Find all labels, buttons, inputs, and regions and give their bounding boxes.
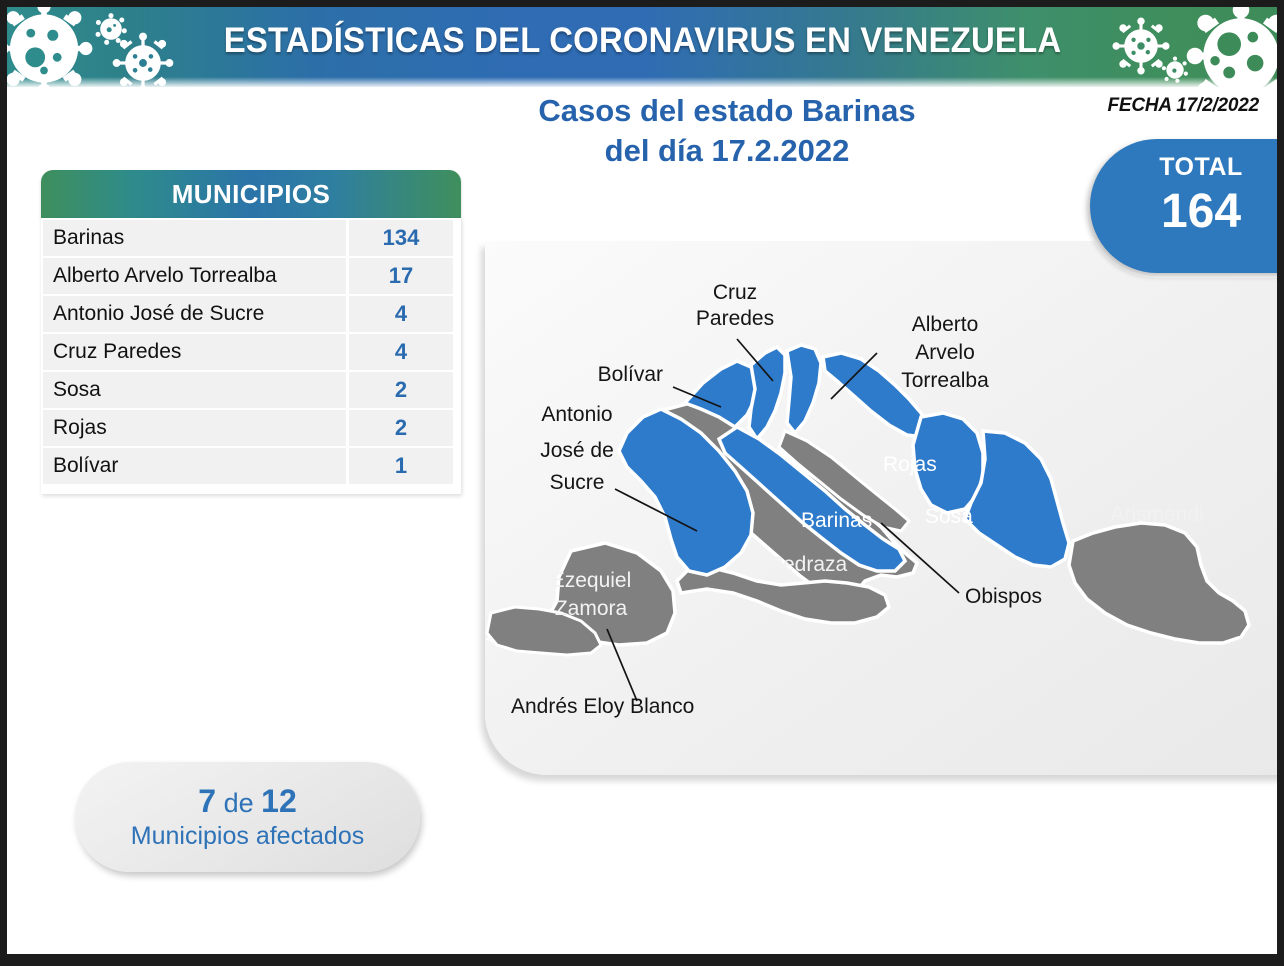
subtitle-line-1: Casos del estado Barinas — [477, 91, 977, 131]
map-label-andres-eloy-blanco: Andrés Eloy Blanco — [511, 695, 694, 718]
map-label-alberto-arvelo-torrealba: Alberto — [912, 313, 979, 336]
affected-ratio: 7 de 12 — [198, 783, 296, 821]
banner-title: ESTADÍSTICAS DEL CORONAVIRUS EN VENEZUEL… — [45, 21, 1240, 61]
page-subtitle: Casos del estado Barinas del día 17.2.20… — [477, 91, 977, 172]
map-label-antonio-jose-de-sucre-3: Sucre — [550, 471, 605, 494]
ratio-connector — [216, 788, 224, 818]
map-label-barinas: Barinas — [801, 509, 872, 532]
map-label-alberto-arvelo-torrealba-3: Torrealba — [901, 369, 989, 392]
map-label-bolivar: Bolívar — [598, 363, 663, 386]
map-label-alberto-arvelo-torrealba-2: Arvelo — [915, 341, 975, 364]
affected-caption: Municipios afectados — [131, 822, 364, 851]
subtitle-line-2: del día 17.2.2022 — [477, 131, 977, 171]
map-label-obispos: Obispos — [965, 585, 1042, 608]
municipios-table: MUNICIPIOS Barinas 134 Alberto Arvelo To… — [41, 170, 461, 494]
map-label-arismendi: Arismendi — [1110, 503, 1203, 526]
table-row[interactable]: Alberto Arvelo Torrealba 17 — [43, 258, 453, 294]
ratio-space — [254, 788, 262, 818]
municipio-cases: 1 — [349, 448, 453, 484]
table-row[interactable]: Cruz Paredes 4 — [43, 334, 453, 370]
affected-total: 12 — [261, 783, 297, 819]
municipio-cases: 4 — [349, 296, 453, 332]
total-value: 164 — [1112, 184, 1284, 239]
affected-count: 7 — [198, 783, 216, 819]
municipio-name: Alberto Arvelo Torrealba — [43, 258, 346, 294]
table-row[interactable]: Sosa 2 — [43, 372, 453, 408]
map-label-ezequiel: Ezequiel — [551, 569, 632, 592]
map-label-antonio-jose-de-sucre-2: José de — [540, 439, 614, 462]
table-body: Barinas 134 Alberto Arvelo Torrealba 17 … — [41, 218, 461, 494]
ratio-connector-word: de — [224, 788, 254, 818]
map-panel: Cruz Paredes Bolívar Antonio José de Suc… — [485, 241, 1284, 775]
table-row[interactable]: Barinas 134 — [43, 220, 453, 256]
municipio-cases: 4 — [349, 334, 453, 370]
municipio-name: Barinas — [43, 220, 346, 256]
map-region-cruz-paredes[interactable] — [749, 347, 785, 439]
municipio-cases: 17 — [349, 258, 453, 294]
municipio-cases: 134 — [349, 220, 453, 256]
map-label-cruz-paredes-2: Paredes — [696, 307, 774, 330]
map-label-sosa: Sosa — [925, 505, 973, 528]
municipio-name: Bolívar — [43, 448, 346, 484]
map-label-rojas: Rojas — [883, 453, 937, 476]
municipio-name: Antonio José de Sucre — [43, 296, 346, 332]
table-header: MUNICIPIOS — [41, 170, 461, 218]
municipio-cases: 2 — [349, 372, 453, 408]
map-label-cruz-paredes: Cruz — [713, 281, 757, 304]
map-region-cruz-paredes-b[interactable] — [787, 345, 821, 433]
map-region-alberto-arvelo-torrealba[interactable] — [823, 353, 929, 437]
date-label: FECHA 17/2/2022 — [1107, 95, 1259, 117]
affected-municipalities-badge: 7 de 12 Municipios afectados — [75, 762, 420, 872]
header-banner: ESTADÍSTICAS DEL CORONAVIRUS EN VENEZUEL… — [7, 7, 1278, 87]
table-row[interactable]: Antonio José de Sucre 4 — [43, 296, 453, 332]
infographic-page: ESTADÍSTICAS DEL CORONAVIRUS EN VENEZUEL… — [0, 0, 1284, 966]
banner-bottom-fade — [7, 77, 1278, 87]
barinas-municipalities-map: Cruz Paredes Bolívar Antonio José de Suc… — [485, 241, 1284, 775]
municipio-cases: 2 — [349, 410, 453, 446]
table-row[interactable]: Rojas 2 — [43, 410, 453, 446]
map-region-arismendi[interactable] — [1069, 523, 1249, 643]
map-label-antonio-jose-de-sucre: Antonio — [541, 403, 612, 426]
total-label: TOTAL — [1112, 153, 1284, 182]
total-badge: TOTAL 164 — [1090, 139, 1284, 273]
map-label-pedraza: Pedraza — [769, 553, 848, 576]
municipio-name: Rojas — [43, 410, 346, 446]
municipio-name: Sosa — [43, 372, 346, 408]
map-label-zamora: Zamora — [555, 597, 628, 620]
table-row[interactable]: Bolívar 1 — [43, 448, 453, 484]
municipio-name: Cruz Paredes — [43, 334, 346, 370]
